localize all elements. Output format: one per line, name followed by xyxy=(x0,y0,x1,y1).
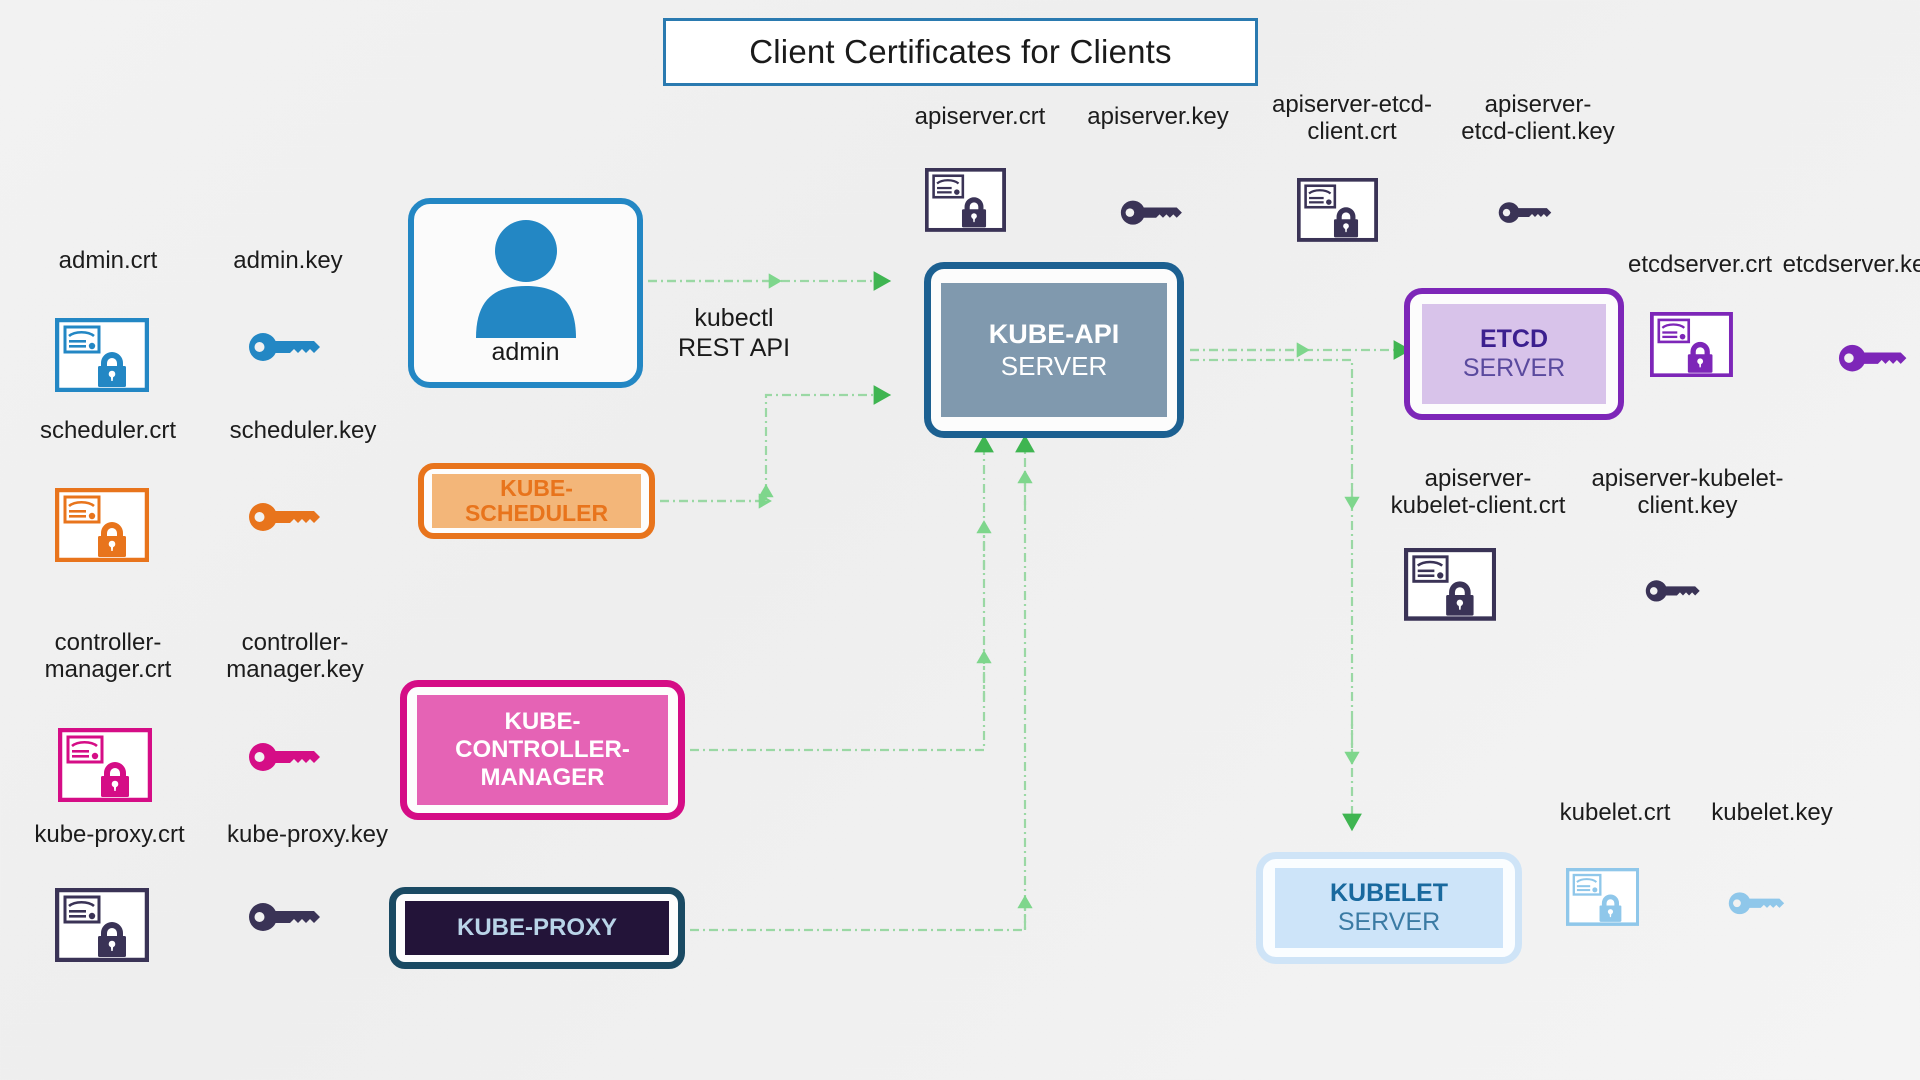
certificate-icon xyxy=(55,318,149,392)
kube-api-subtitle: SERVER xyxy=(1001,351,1107,381)
cert-label-etcdserver-crt: etcdserver.crt xyxy=(1620,252,1780,279)
node-kube-proxy[interactable]: KUBE-PROXY xyxy=(389,887,685,969)
diagram-title-box: Client Certificates for Clients xyxy=(663,18,1258,86)
admin-label: admin xyxy=(491,338,559,367)
edge-proxy-to-apiserver xyxy=(690,448,1025,930)
certificate-etcdserver-crt xyxy=(1650,312,1733,382)
kube-proxy-title: KUBE-PROXY xyxy=(457,914,617,942)
kube-controller-manager-title: KUBE- CONTROLLER- MANAGER xyxy=(455,708,630,793)
node-admin[interactable]: admin xyxy=(408,198,643,388)
cert-label-etcdserver-key: etcdserver.key xyxy=(1775,252,1920,279)
cert-label-kubelet-crt: kubelet.crt xyxy=(1540,800,1690,827)
certificate-kubelet-crt xyxy=(1566,868,1639,931)
key-scheduler-key xyxy=(248,500,322,539)
edge-apiserver-to-kubelet xyxy=(1190,360,1352,818)
key-icon xyxy=(1120,198,1184,227)
certificate-scheduler-crt xyxy=(55,488,149,567)
key-kubelet-key xyxy=(1728,890,1786,922)
key-icon xyxy=(248,500,322,534)
certificate-icon xyxy=(55,888,149,962)
edge-controller-to-apiserver xyxy=(690,448,984,750)
certificate-icon xyxy=(1404,548,1496,621)
cert-label-kube-proxy-crt: kube-proxy.crt xyxy=(2,822,217,849)
cert-label-controller-manager-crt: controller- manager.crt xyxy=(8,630,208,684)
key-icon xyxy=(1728,890,1786,917)
etcd-title: ETCD xyxy=(1480,325,1548,354)
certificate-icon xyxy=(1297,178,1378,242)
cert-label-kubelet-key: kubelet.key xyxy=(1692,800,1852,827)
cert-label-admin-key: admin.key xyxy=(198,248,378,275)
key-etcdserver-key xyxy=(1838,342,1908,379)
node-kube-controller-manager[interactable]: KUBE- CONTROLLER- MANAGER xyxy=(400,680,685,820)
cert-label-apiserver-kubelet-client-key: apiserver-kubelet- client.key xyxy=(1580,466,1795,520)
certificate-icon xyxy=(58,728,152,802)
admin-person-icon xyxy=(471,218,581,338)
certificate-icon xyxy=(55,488,149,562)
certificate-admin-crt xyxy=(55,318,149,397)
certificate-controller-manager-crt xyxy=(58,728,152,807)
key-apiserver-kubelet-client-key xyxy=(1645,578,1701,609)
certificate-kube-proxy-crt xyxy=(55,888,149,967)
key-icon xyxy=(1498,200,1553,225)
key-controller-manager-key xyxy=(248,740,322,779)
node-etcd-server[interactable]: ETCD SERVER xyxy=(1404,288,1624,420)
etcd-subtitle: SERVER xyxy=(1463,354,1565,383)
cert-label-admin-crt: admin.crt xyxy=(18,248,198,275)
kube-scheduler-title: KUBE- SCHEDULER xyxy=(465,476,608,526)
key-icon xyxy=(248,740,322,774)
key-icon xyxy=(1838,342,1908,374)
certificate-apiserver-kubelet-client-crt xyxy=(1404,548,1496,626)
certificate-icon xyxy=(925,168,1006,232)
kubelet-title: KUBELET xyxy=(1330,879,1448,908)
key-apiserver-key xyxy=(1120,198,1184,232)
page-title: Client Certificates for Clients xyxy=(749,33,1172,71)
cert-label-apiserver-etcd-client-key: apiserver- etcd-client.key xyxy=(1448,92,1628,146)
certificate-apiserver-crt xyxy=(925,168,1006,237)
kube-api-title: KUBE-API xyxy=(989,319,1120,350)
cert-label-kube-proxy-key: kube-proxy.key xyxy=(200,822,415,849)
node-kube-scheduler[interactable]: KUBE- SCHEDULER xyxy=(418,463,655,539)
key-icon xyxy=(248,330,322,364)
key-apiserver-etcd-client-key xyxy=(1498,200,1553,230)
key-kube-proxy-key xyxy=(248,900,322,939)
cert-label-scheduler-key: scheduler.key xyxy=(208,418,398,445)
key-admin-key xyxy=(248,330,322,369)
cert-label-apiserver-crt: apiserver.crt xyxy=(890,104,1070,131)
kubelet-subtitle: SERVER xyxy=(1338,908,1440,937)
node-kubelet-server[interactable]: KUBELET SERVER xyxy=(1256,852,1522,964)
cert-label-scheduler-crt: scheduler.crt xyxy=(8,418,208,445)
cert-label-apiserver-key: apiserver.key xyxy=(1068,104,1248,131)
certificate-icon xyxy=(1650,312,1733,377)
edge-scheduler-to-apiserver xyxy=(660,395,878,501)
cert-label-apiserver-etcd-client-crt: apiserver-etcd- client.crt xyxy=(1262,92,1442,146)
certificate-apiserver-etcd-client-crt xyxy=(1297,178,1378,247)
key-icon xyxy=(1645,578,1701,604)
node-kube-api-server[interactable]: KUBE-API SERVER xyxy=(924,262,1184,438)
cert-label-apiserver-kubelet-client-crt: apiserver- kubelet-client.crt xyxy=(1378,466,1578,520)
kubectl-rest-api-label: kubectl REST API xyxy=(659,304,809,363)
key-icon xyxy=(248,900,322,934)
cert-label-controller-manager-key: controller- manager.key xyxy=(200,630,390,684)
certificate-icon xyxy=(1566,868,1639,926)
